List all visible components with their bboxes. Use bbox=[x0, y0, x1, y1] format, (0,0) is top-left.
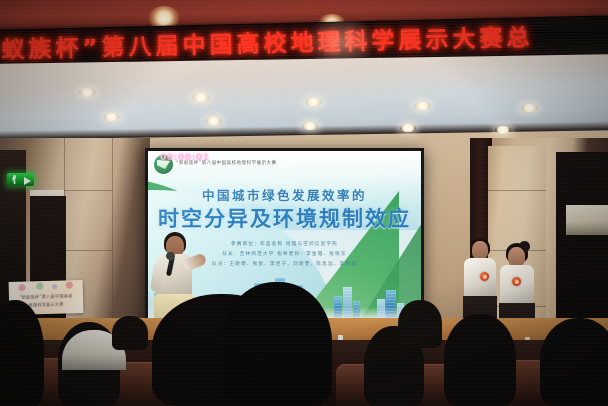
ceiling-downlight bbox=[205, 117, 222, 125]
ceiling-downlight bbox=[521, 104, 538, 112]
audience-member bbox=[222, 282, 332, 406]
microphone-head bbox=[166, 252, 175, 260]
teammate-left-badge bbox=[480, 272, 489, 281]
right-doorway bbox=[556, 152, 608, 344]
audience-member bbox=[540, 318, 608, 406]
arrow-right-icon bbox=[24, 177, 31, 185]
audience-member-head bbox=[112, 316, 148, 350]
ceiling-downlight bbox=[302, 122, 318, 130]
ceiling-downlight bbox=[400, 124, 416, 132]
audience-member bbox=[444, 314, 516, 406]
sign-decoration bbox=[9, 280, 83, 292]
ceiling-downlight bbox=[192, 93, 210, 102]
right-doorway-light bbox=[566, 205, 608, 235]
teammate-right-badge bbox=[512, 277, 521, 286]
audience-member bbox=[398, 300, 442, 348]
ceiling-downlight bbox=[103, 113, 120, 121]
ceiling-downlight bbox=[414, 102, 431, 110]
ceiling-downlight bbox=[495, 126, 511, 134]
teammate-right-head bbox=[508, 247, 525, 267]
exit-sign bbox=[7, 173, 34, 186]
running-man-icon bbox=[12, 175, 17, 184]
ceiling-downlight bbox=[305, 98, 322, 106]
ceiling-downlight bbox=[78, 88, 96, 97]
conference-hall-scene: 新蚁族杯”第八届中国高校地理科学展示大赛总 “新蚁族杯”第八届中国高校 地理科学… bbox=[0, 0, 608, 406]
